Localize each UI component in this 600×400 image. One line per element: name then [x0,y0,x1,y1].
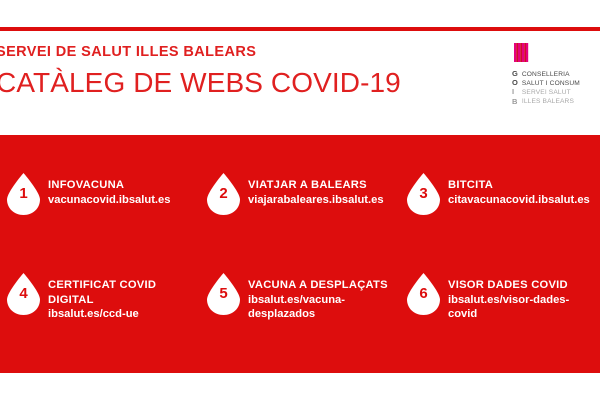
catalog-item[interactable]: 6 VISOR DADES COVID ibsalut.es/visor-dad… [400,269,600,369]
item-text-block: VIATJAR A BALEARS viajarabaleares.ibsalu… [248,178,390,207]
droplet-badge-icon: 6 [407,273,440,315]
page-header: SERVEI DE SALUT ILLES BALEARS CATÀLEG DE… [0,40,600,135]
item-title: CERTIFICAT COVID DIGITAL [48,278,190,307]
catalog-panel: 1 INFOVACUNA vacunacovid.ibsalut.es 2 VI… [0,135,600,373]
goib-logo: G O I B CONSELLERIA SALUT I CONSUM SERVE… [506,42,600,130]
item-number: 5 [207,286,240,301]
item-text-block: VISOR DADES COVID ibsalut.es/visor-dades… [448,278,590,322]
balearic-crest-icon [513,42,530,64]
logo-text-block: G O I B CONSELLERIA SALUT I CONSUM SERVE… [506,69,580,106]
droplet-badge-icon: 3 [407,173,440,215]
catalog-item[interactable]: 1 INFOVACUNA vacunacovid.ibsalut.es [0,169,200,269]
droplet-badge-icon: 5 [207,273,240,315]
acronym-letter-o: O [512,78,518,87]
logo-line-3: SERVEI SALUT [522,88,580,97]
item-url[interactable]: ibsalut.es/vacuna-desplazados [248,293,390,322]
item-number: 1 [7,186,40,201]
header-text-block: SERVEI DE SALUT ILLES BALEARS CATÀLEG DE… [0,45,476,99]
item-text-block: VACUNA A DESPLAÇATS ibsalut.es/vacuna-de… [248,278,390,322]
item-title: INFOVACUNA [48,178,190,193]
catalog-item[interactable]: 3 BITCITA citavacunacovid.ibsalut.es [400,169,600,269]
item-title: VACUNA A DESPLAÇATS [248,278,390,293]
acronym-letter-b: B [512,97,518,106]
item-text-block: INFOVACUNA vacunacovid.ibsalut.es [48,178,190,207]
droplet-badge-icon: 2 [207,173,240,215]
item-url[interactable]: vacunacovid.ibsalut.es [48,193,190,208]
top-accent-rule [0,27,600,31]
acronym-letter-g: G [512,69,518,78]
catalog-item[interactable]: 5 VACUNA A DESPLAÇATS ibsalut.es/vacuna-… [200,269,400,369]
item-number: 4 [7,286,40,301]
item-title: VIATJAR A BALEARS [248,178,390,193]
catalog-item[interactable]: 4 CERTIFICAT COVID DIGITAL ibsalut.es/cc… [0,269,200,369]
goib-acronym: G O I B [506,69,518,106]
item-title: VISOR DADES COVID [448,278,590,293]
item-url[interactable]: ibsalut.es/ccd-ue [48,307,190,322]
catalog-item[interactable]: 2 VIATJAR A BALEARS viajarabaleares.ibsa… [200,169,400,269]
item-number: 3 [407,186,440,201]
item-number: 6 [407,286,440,301]
acronym-letter-i: I [512,87,518,96]
droplet-badge-icon: 4 [7,273,40,315]
item-url[interactable]: viajarabaleares.ibsalut.es [248,193,390,208]
page-title: CATÀLEG DE WEBS COVID-19 [0,68,476,99]
organization-name: SERVEI DE SALUT ILLES BALEARS [0,45,476,61]
logo-line-1: CONSELLERIA [522,70,580,79]
item-text-block: CERTIFICAT COVID DIGITAL ibsalut.es/ccd-… [48,278,190,322]
catalog-grid: 1 INFOVACUNA vacunacovid.ibsalut.es 2 VI… [0,169,600,369]
logo-line-4: ILLES BALEARS [522,97,580,106]
goib-department-lines: CONSELLERIA SALUT I CONSUM SERVEI SALUT … [522,69,580,106]
item-title: BITCITA [448,178,590,193]
droplet-badge-icon: 1 [7,173,40,215]
logo-line-2: SALUT I CONSUM [522,79,580,88]
item-url[interactable]: citavacunacovid.ibsalut.es [448,193,590,208]
item-number: 2 [207,186,240,201]
item-text-block: BITCITA citavacunacovid.ibsalut.es [448,178,590,207]
item-url[interactable]: ibsalut.es/visor-dades-covid [448,293,590,322]
